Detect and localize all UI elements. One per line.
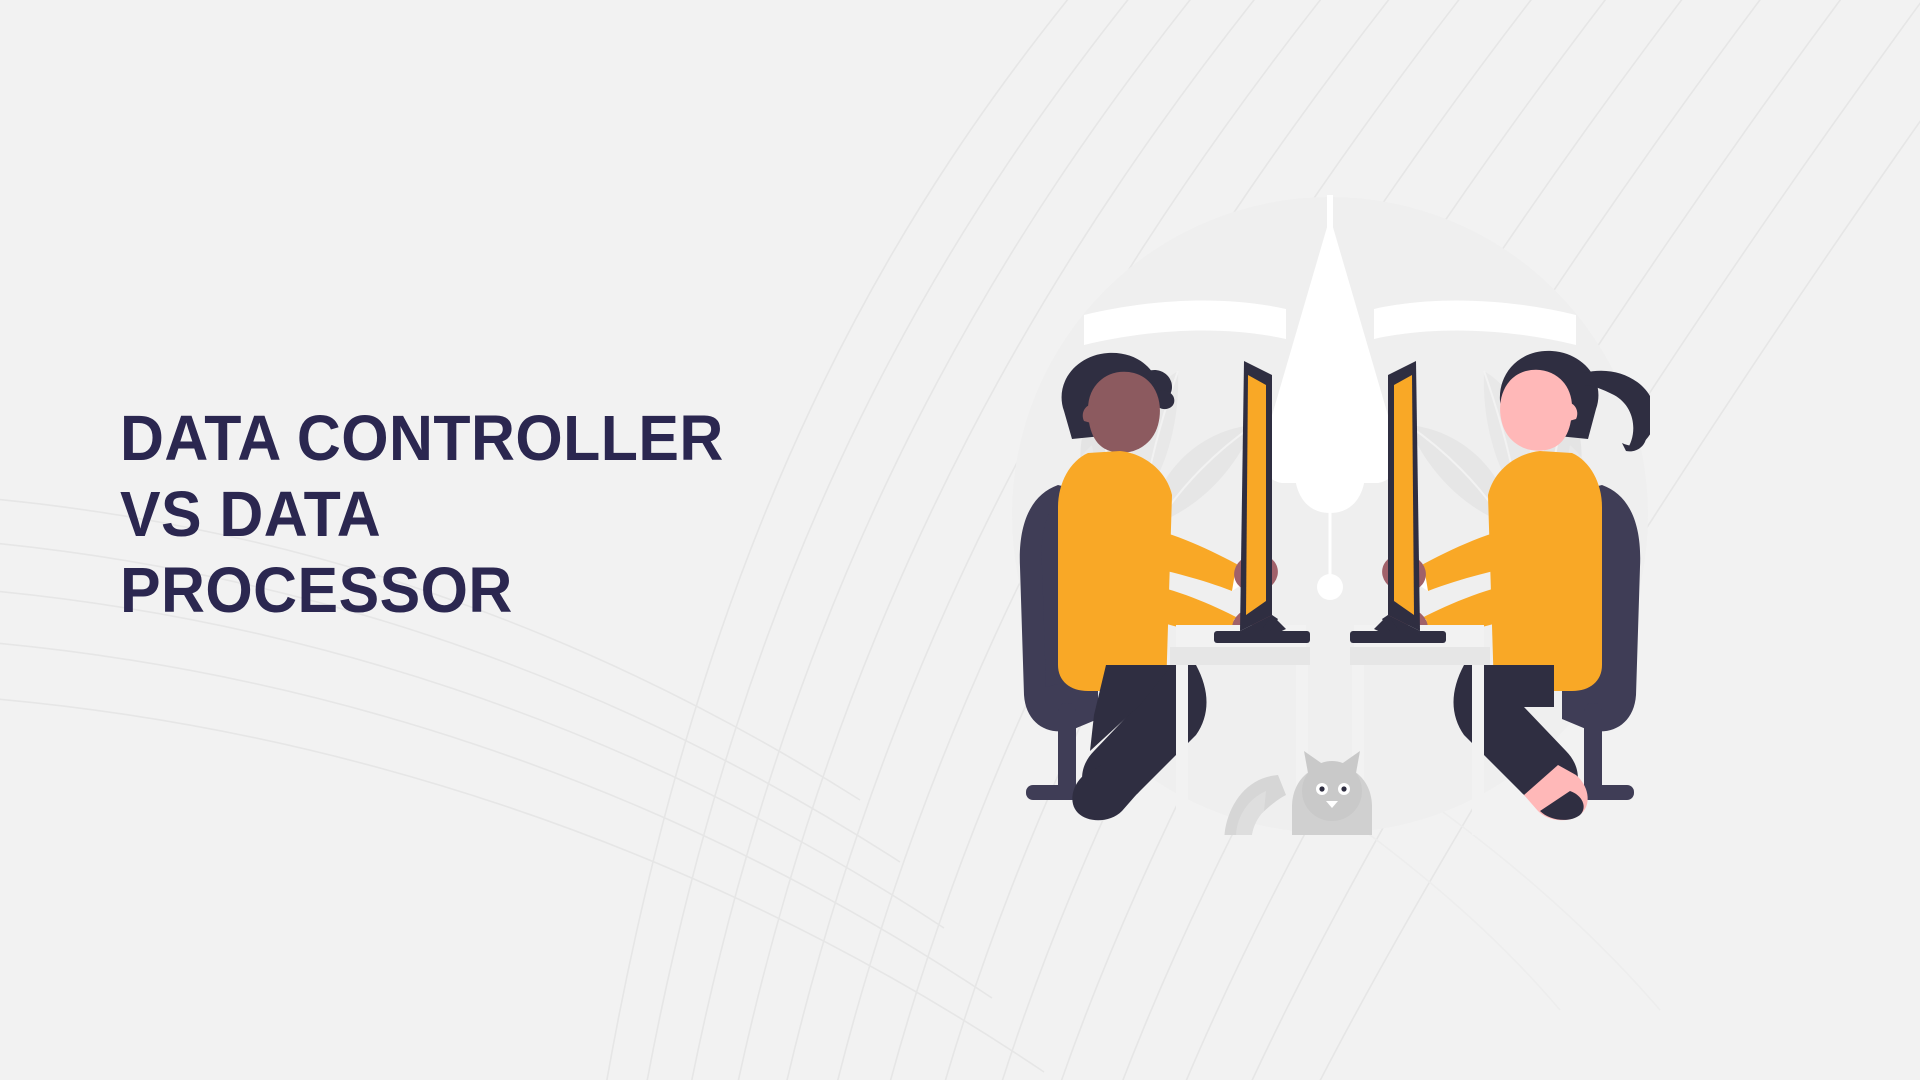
page-title: DATA CONTROLLER VS DATA PROCESSOR [120,400,940,628]
person-left-torso [1058,451,1172,691]
two-coworkers-at-desks-illustration [1010,195,1650,835]
page-title-line-2: VS DATA [120,476,899,552]
person-right-torso [1488,451,1602,691]
page-title-line-3: PROCESSOR [120,552,899,628]
hero-banner: DATA CONTROLLER VS DATA PROCESSOR [0,0,1920,1080]
page-title-line-1: DATA CONTROLLER [120,400,899,476]
